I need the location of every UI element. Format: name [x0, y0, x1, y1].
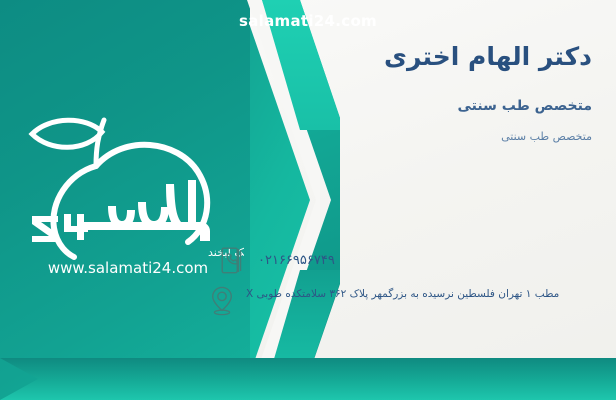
business-card: براحتی یک لبخند www.salamati24.com دکتر … — [0, 0, 616, 400]
footer-website[interactable]: salamati24.com — [239, 12, 377, 30]
map-pin-icon — [208, 286, 236, 316]
salamati24-logo: براحتی یک لبخند www.salamati24.com — [12, 110, 244, 275]
phone-book-icon — [218, 245, 246, 275]
logo-website: www.salamati24.com — [48, 259, 208, 275]
leaf-icon — [32, 120, 104, 166]
footer-bar-content: salamati24.com — [0, 0, 616, 42]
doctor-name: دکتر الهام اختری — [232, 42, 592, 71]
doctor-specialty: متخصص طب سنتی — [232, 98, 592, 114]
phone-row[interactable]: ۰۲۱۶۶۹۵۶۷۴۹ — [218, 245, 598, 275]
address-text: مطب ۱ تهران فلسطین نرسیده به بزرگمهر پلا… — [246, 286, 559, 302]
doctor-specialty-sub: متخصص طب سنتی — [232, 130, 592, 143]
brand-wordmark — [32, 180, 210, 242]
footer-bar — [0, 358, 616, 400]
phone-number: ۰۲۱۶۶۹۵۶۷۴۹ — [258, 253, 335, 268]
apple-outline-icon — [53, 145, 207, 257]
address-row[interactable]: مطب ۱ تهران فلسطین نرسیده به بزرگمهر پلا… — [208, 286, 598, 316]
